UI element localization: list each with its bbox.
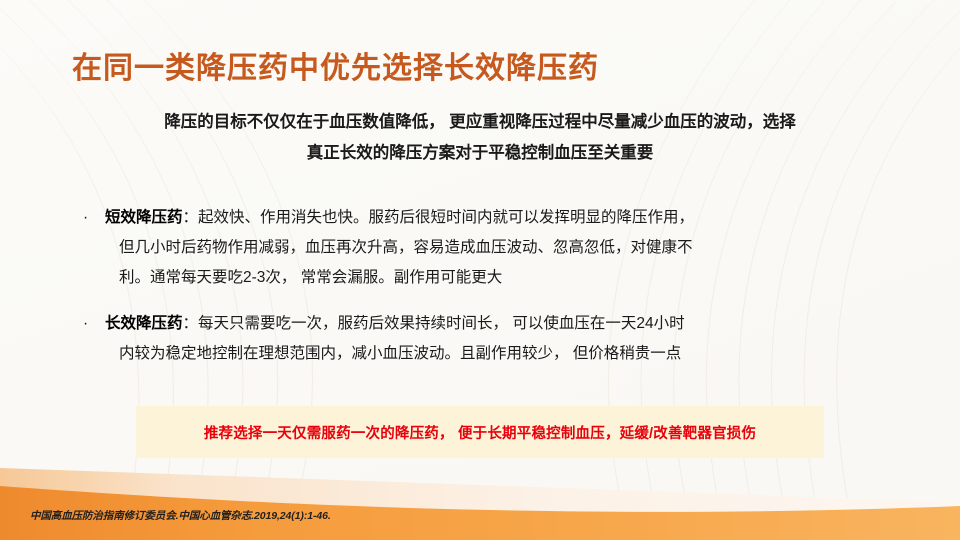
bullet-text-line-2: 内较为稳定地控制在理想范围内，减小血压波动。且副作用较少， 但价格稍贵一点: [105, 339, 890, 369]
page-title: 在同一类降压药中优先选择长效降压药: [72, 43, 599, 87]
bullet-lead-label: 长效降压药: [105, 315, 183, 332]
subtitle-line-2: 真正长效的降压方案对于平稳控制血压至关重要: [70, 138, 890, 169]
list-item: · 短效降压药：起效快、作用消失也快。服药后很短时间内就可以发挥明显的降压作用，…: [78, 203, 890, 293]
slide-root: 在同一类降压药中优先选择长效降压药 降压的目标不仅仅在于血压数值降低， 更应重视…: [0, 0, 960, 540]
bullet-marker-icon: ·: [83, 309, 88, 339]
bullet-marker-icon: ·: [83, 203, 88, 233]
recommendation-callout-text: 推荐选择一天仅需服药一次的降压药， 便于长期平稳控制血压，延缓/改善靶器官损伤: [204, 422, 756, 443]
bullet-text-line-2: 但几小时后药物作用减弱，血压再次升高，容易造成血压波动、忽高忽低，对健康不: [105, 233, 890, 263]
bullet-text-line-1: 每天只需要吃一次，服药后效果持续时间长， 可以使血压在一天24小时: [198, 315, 685, 332]
recommendation-callout-box: 推荐选择一天仅需服药一次的降压药， 便于长期平稳控制血压，延缓/改善靶器官损伤: [136, 406, 824, 458]
bullet-list: · 短效降压药：起效快、作用消失也快。服药后很短时间内就可以发挥明显的降压作用，…: [78, 203, 890, 369]
bullet-text-line-3: 利。通常每天要吃2-3次， 常常会漏服。副作用可能更大: [105, 263, 890, 293]
list-item: · 长效降压药：每天只需要吃一次，服药后效果持续时间长， 可以使血压在一天24小…: [78, 309, 890, 369]
bullet-lead-label: 短效降压药: [105, 209, 183, 226]
subtitle-line-1: 降压的目标不仅仅在于血压数值降低， 更应重视降压过程中尽量减少血压的波动，选择: [70, 107, 890, 138]
slide-subtitle: 降压的目标不仅仅在于血压数值降低， 更应重视降压过程中尽量减少血压的波动，选择 …: [70, 107, 890, 169]
bullet-separator: ：: [183, 209, 199, 226]
source-citation: 中国高血压防治指南修订委员会.中国心血管杂志.2019,24(1):1-46.: [30, 508, 331, 523]
bullet-text-line-1: 起效快、作用消失也快。服药后很短时间内就可以发挥明显的降压作用，: [198, 209, 694, 226]
bullet-separator: ：: [183, 315, 199, 332]
